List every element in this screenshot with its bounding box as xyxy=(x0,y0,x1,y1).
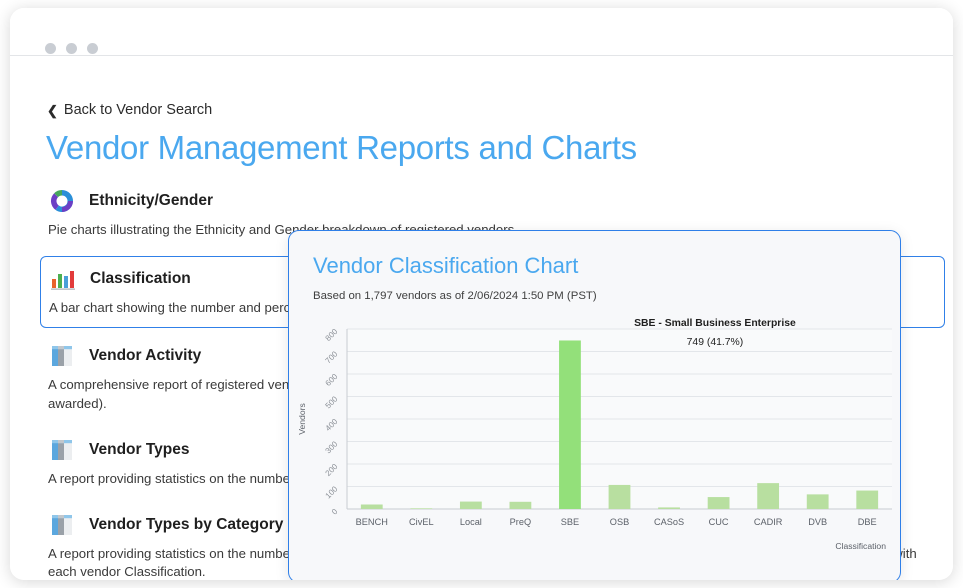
x-axis-tick: CADIR xyxy=(754,517,783,527)
zoom-dot-icon[interactable] xyxy=(87,43,98,54)
x-axis-tick: SBE xyxy=(561,517,579,527)
screenshot-root: ❮ Back to Vendor Search Vendor Managemen… xyxy=(0,0,963,588)
report-doc-icon xyxy=(48,511,76,539)
back-to-vendor-search-link[interactable]: ❮ Back to Vendor Search xyxy=(47,102,212,118)
y-axis-tick: 800 xyxy=(324,327,340,343)
x-axis-label: Classification xyxy=(835,541,886,551)
bar-local[interactable] xyxy=(460,502,482,509)
y-axis-tick: 500 xyxy=(324,394,340,410)
bar-sbe[interactable] xyxy=(559,340,581,509)
chart-tooltip-title: SBE - Small Business Enterprise xyxy=(634,318,796,329)
y-axis-tick: 200 xyxy=(324,462,340,478)
chevron-left-icon: ❮ xyxy=(47,104,58,117)
report-doc-icon xyxy=(48,436,76,464)
close-dot-icon[interactable] xyxy=(45,43,56,54)
browser-titlebar xyxy=(10,8,953,56)
bar-casos[interactable] xyxy=(658,507,680,509)
x-axis-tick: CASoS xyxy=(654,517,684,527)
chart-panel-subtitle: Based on 1,797 vendors as of 2/06/2024 1… xyxy=(313,290,597,302)
report-title: Vendor Activity xyxy=(89,347,201,365)
x-axis-tick: DVB xyxy=(808,517,827,527)
report-title: Ethnicity/Gender xyxy=(89,192,213,210)
x-axis-tick: CivEL xyxy=(409,517,434,527)
bar-dvb[interactable] xyxy=(807,494,829,509)
x-axis-tick: PreQ xyxy=(510,517,531,527)
chart-tooltip-value: 749 (41.7%) xyxy=(687,337,744,348)
bar-civel[interactable] xyxy=(410,508,432,509)
x-axis-tick: DBE xyxy=(858,517,877,527)
y-axis-label: Vendors xyxy=(297,403,307,435)
y-axis-tick: 0 xyxy=(330,507,340,517)
minimize-dot-icon[interactable] xyxy=(66,43,77,54)
chart-plot-area[interactable]: 0100200300400500600700800BENCHCivELLocal… xyxy=(289,311,901,580)
x-axis-tick: BENCH xyxy=(356,517,388,527)
browser-window: ❮ Back to Vendor Search Vendor Managemen… xyxy=(10,8,953,580)
bar-cadir[interactable] xyxy=(757,483,779,509)
report-doc-icon xyxy=(48,342,76,370)
report-head: Ethnicity/Gender xyxy=(48,187,937,215)
back-link-label: Back to Vendor Search xyxy=(64,102,212,118)
x-axis-tick: CUC xyxy=(709,517,729,527)
x-axis-tick: Local xyxy=(460,517,482,527)
window-controls xyxy=(45,43,98,54)
bar-dbe[interactable] xyxy=(856,491,878,509)
classification-bar-chart[interactable]: 0100200300400500600700800BENCHCivELLocal… xyxy=(289,311,901,580)
report-title: Vendor Types xyxy=(89,441,190,459)
vendor-classification-chart-panel[interactable]: Vendor Classification Chart Based on 1,7… xyxy=(288,230,901,580)
report-title: Vendor Types by Category xyxy=(89,516,283,534)
y-axis-tick: 400 xyxy=(324,417,340,433)
y-axis-tick: 600 xyxy=(324,372,340,388)
y-axis-tick: 700 xyxy=(324,349,340,365)
report-title: Classification xyxy=(90,270,191,288)
y-axis-tick: 100 xyxy=(324,484,340,500)
bar-cuc[interactable] xyxy=(708,497,730,509)
bar-chart-icon xyxy=(49,265,77,293)
bar-preq[interactable] xyxy=(510,502,532,509)
chart-panel-title: Vendor Classification Chart xyxy=(313,253,578,279)
page-title: Vendor Management Reports and Charts xyxy=(46,129,637,167)
bar-bench[interactable] xyxy=(361,505,383,510)
x-axis-tick: OSB xyxy=(610,517,629,527)
donut-chart-icon xyxy=(48,187,76,215)
bar-osb[interactable] xyxy=(609,485,631,509)
page-content: ❮ Back to Vendor Search Vendor Managemen… xyxy=(10,56,953,580)
y-axis-tick: 300 xyxy=(324,439,340,455)
